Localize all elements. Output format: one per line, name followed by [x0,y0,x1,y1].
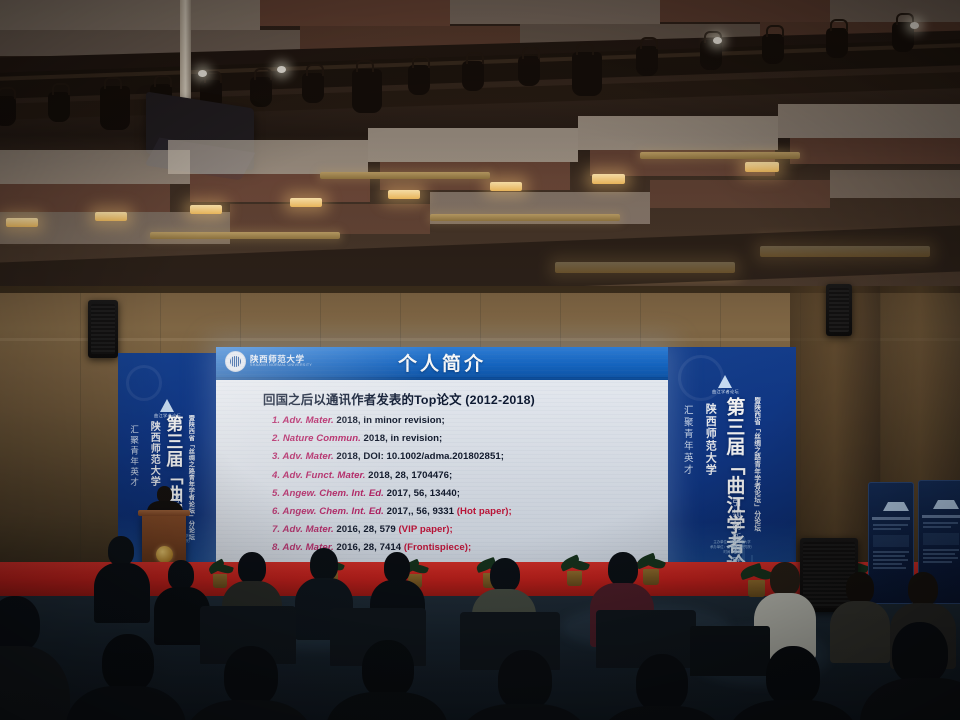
ref-note-7: (VIP paper); [398,524,452,535]
banner-right-slogan-a: 汇聚青年英才 [682,405,692,476]
ref-num-journal-4: 4. Adv. Funct. Mater. [272,470,365,481]
ref-note-6: (Hot paper); [457,506,512,517]
ref-rest-6: 2017,, 56, 9331 [384,506,457,517]
banner-right: 曲江学者论坛 暨陕西省「丝绸之路青年学者论坛」分论坛 第三届「曲江学者论坛」 陕… [668,347,796,597]
ref-num-journal-3: 3. Adv. Mater. [272,451,334,462]
spot-highlight-icon [198,70,207,77]
sail-logo-icon: 曲江学者论坛 [712,375,739,395]
ceiling [0,0,960,300]
ref-rest-4: 2018, 28, 1704476; [365,470,452,481]
recessed-ceiling-light [150,232,340,239]
chair [690,626,770,676]
list-item: 5. Angew. Chem. Int. Ed. 2017, 56, 13440… [272,488,654,499]
banner-left-university: 陕西师范大学 [148,421,158,487]
loudspeaker-icon [826,284,852,336]
recessed-ceiling-light [190,205,222,214]
banner-right-logo-label: 曲江学者论坛 [712,389,739,395]
ref-num-journal-2: 2. Nature Commun. [272,433,361,444]
spot-highlight-icon [277,66,286,73]
reference-list: 1. Adv. Mater. 2018, in minor revision; … [230,415,654,553]
recessed-ceiling-light [592,174,625,184]
conference-hall-photo: 曲江学者论坛 暨陕西省「丝绸之路青年学者论坛」分论坛 第三届「曲江学者论坛」 陕… [0,0,960,720]
recessed-ceiling-light [95,212,127,221]
projection-screen: 陕西师范大学 SHAANXI NORMAL UNIVERSITY 个人简介 回国… [216,347,668,579]
slide-header-bar: 陕西师范大学 SHAANXI NORMAL UNIVERSITY 个人简介 [216,347,668,377]
ref-num-journal-1: 1. Adv. Mater. [272,415,334,426]
podium-emblem-icon [156,546,173,563]
recessed-ceiling-light [6,218,38,227]
banner-left-slogan-a: 汇聚青年英才 [130,425,139,488]
recessed-ceiling-light [290,198,322,207]
slide-subtitle: 回国之后以通讯作者发表的Top论文 (2012-2018) [263,390,654,408]
recessed-ceiling-light [745,162,779,172]
list-item: 6. Angew. Chem. Int. Ed. 2017,, 56, 9331… [272,506,654,517]
ref-rest-7: 2016, 28, 579 [334,524,399,535]
slide-title: 个人简介 [216,349,668,376]
list-item: 1. Adv. Mater. 2018, in minor revision; [272,415,654,426]
ref-num-journal-5: 5. Angew. Chem. Int. Ed. [272,488,384,499]
ref-num-journal-7: 7. Adv. Mater. [272,524,334,535]
ref-rest-5: 2017, 56, 13440; [384,488,460,499]
ref-rest-2: 2018, in revision; [361,433,442,444]
recessed-ceiling-light [640,152,800,159]
banner-right-footer: 主办单位：陕西师范大学 承办单位：各学院（研究院） 时间・地点 [668,540,796,555]
list-item: 2. Nature Commun. 2018, in revision; [272,433,654,444]
list-item: 7. Adv. Mater. 2016, 28, 579 (VIP paper)… [272,524,654,535]
recessed-ceiling-light [430,214,620,221]
slide-body: 回国之后以通讯作者发表的Top论文 (2012-2018) 1. Adv. Ma… [216,377,668,579]
ref-rest-1: 2018, in minor revision; [334,415,445,426]
banner-right-university: 陕西师范大学 [704,403,715,476]
recessed-ceiling-light [388,190,420,199]
loudspeaker-icon [88,300,118,358]
list-item: 4. Adv. Funct. Mater. 2018, 28, 1704476; [272,470,654,481]
ref-num-journal-6: 6. Angew. Chem. Int. Ed. [272,506,384,517]
watermark-seal-icon [126,365,162,401]
spot-highlight-icon [910,22,919,29]
recessed-ceiling-light [490,182,522,191]
banner-right-forum-line: 暨陕西省「丝绸之路青年学者论坛」分论坛 [752,397,759,532]
list-item: 3. Adv. Mater. 2018, DOI: 10.1002/adma.2… [272,451,654,462]
spot-highlight-icon [713,37,722,44]
ref-rest-3: 2018, DOI: 10.1002/adma.201802851; [334,451,504,462]
recessed-ceiling-light [320,172,490,179]
ref-note-8: (Frontispiece); [404,542,471,553]
